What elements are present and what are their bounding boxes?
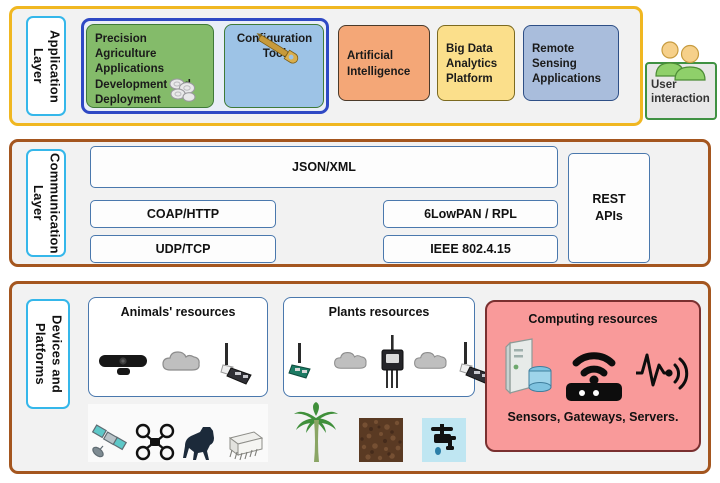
application-layer-label: Application Layer (26, 16, 66, 116)
comm-box-ieee-802[interactable]: IEEE 802.4.15 (383, 235, 558, 263)
app-box-precision-agriculture[interactable]: Precision Agriculture Applications Devel… (86, 24, 214, 108)
drone-icon (135, 422, 175, 462)
horse-icon (179, 422, 219, 462)
animals-device-images (94, 336, 262, 392)
comm-box-6lowpan-rpl-label: 6LowPAN / RPL (424, 207, 517, 221)
satellite-icon (90, 422, 130, 462)
app-box-artificial-intelligence-label: Artificial Intelligence (347, 49, 422, 79)
app-box-configuration-tool[interactable]: Configuration Tool (224, 24, 324, 108)
application-layer-label-text: Application Layer (30, 30, 63, 103)
comm-box-udp-tcp[interactable]: UDP/TCP (90, 235, 276, 263)
communication-layer-label: Communication Layer (26, 149, 66, 257)
signal-icon (634, 343, 684, 397)
chip-icon (224, 426, 266, 462)
camera-icon (97, 347, 153, 381)
app-box-big-data-analytics[interactable]: Big Data Analytics Platform (437, 25, 515, 101)
computing-resources-subtitle: Sensors, Gateways, Servers. (487, 410, 699, 424)
app-box-artificial-intelligence[interactable]: Artificial Intelligence (338, 25, 430, 101)
comm-box-coap-http[interactable]: COAP/HTTP (90, 200, 276, 228)
transistor-sensor-icon (372, 335, 412, 391)
comm-box-json-xml[interactable]: JSON/XML (90, 146, 558, 188)
water-tap-icon (422, 418, 466, 462)
users-icon (650, 40, 716, 80)
wrench-icon (249, 34, 301, 60)
cloud-sensor-icon (160, 348, 206, 380)
app-box-big-data-analytics-label: Big Data Analytics Platform (446, 42, 507, 88)
comm-box-rest-apis-line1: REST (592, 191, 625, 208)
computing-resources-title: Computing resources (487, 312, 699, 326)
gears-icon (165, 75, 205, 103)
comm-box-rest-apis[interactable]: REST APIs (568, 153, 650, 263)
comm-box-6lowpan-rpl[interactable]: 6LowPAN / RPL (383, 200, 558, 228)
comm-box-ieee-802-label: IEEE 802.4.15 (430, 242, 511, 256)
animals-resources-title: Animals' resources (89, 305, 267, 319)
plants-resources-title: Plants resources (284, 305, 474, 319)
comm-box-rest-apis-line2: APIs (595, 208, 623, 225)
devices-layer-label: Devices and Platforms (26, 299, 70, 409)
cloud-sensor-icon (412, 348, 452, 378)
router-icon (558, 335, 630, 405)
devices-layer-label-text: Devices and Platforms (32, 315, 65, 393)
architecture-diagram: Application Layer Precision Agriculture … (0, 0, 720, 483)
plants-resource-icons (283, 400, 475, 462)
comm-box-coap-http-label: COAP/HTTP (147, 207, 219, 221)
communication-layer-label-text: Communication Layer (30, 153, 63, 254)
user-interaction-label: User interaction (651, 79, 710, 105)
palm-tree-icon (292, 402, 340, 462)
comm-box-json-xml-label: JSON/XML (292, 160, 356, 174)
app-box-remote-sensing[interactable]: Remote Sensing Applications (523, 25, 619, 101)
antenna-module-icon (213, 341, 259, 387)
computing-resources-box[interactable]: Computing resources (485, 300, 701, 452)
app-box-remote-sensing-label: Remote Sensing Applications (532, 42, 611, 88)
comm-box-udp-tcp-label: UDP/TCP (156, 242, 211, 256)
soil-icon (359, 418, 403, 462)
sensor-board-icon (288, 341, 332, 385)
animals-resource-icons (88, 404, 268, 462)
plants-device-images (288, 332, 470, 394)
cloud-sensor-icon (332, 348, 372, 378)
server-icon (502, 337, 554, 403)
